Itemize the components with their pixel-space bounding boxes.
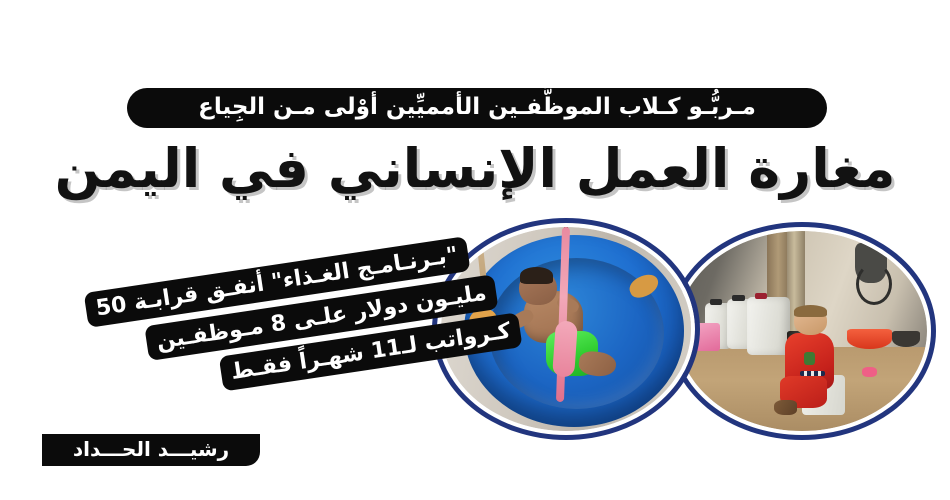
kicker-pill: مـربُّـو كـلاب الموظَّفـين الأمميِّين أو… — [127, 88, 827, 128]
photo-right — [668, 222, 936, 440]
red-bowl — [847, 329, 892, 349]
jerrycan-cap — [755, 293, 768, 299]
bag-strap — [856, 263, 892, 305]
byline-author-name: رشيـــد الحـــداد — [73, 437, 229, 461]
jacket-badge — [804, 352, 815, 365]
jerrycan-cap — [710, 299, 723, 305]
child-hair — [794, 305, 827, 317]
jerrycan-cap — [732, 295, 745, 301]
child-in-red — [777, 307, 852, 419]
page-title: مغارة العمل الإنساني في اليمن — [0, 138, 950, 200]
kicker-text: مـربُّـو كـلاب الموظَّفـين الأمميِّين أو… — [198, 96, 756, 119]
child-shoe — [774, 400, 797, 415]
pink-rope-knot — [552, 320, 578, 377]
deck-block: "بـرنـامـج الغـذاء" أنفـق قرابـة 50 مليـ… — [0, 222, 520, 392]
pink-debris — [862, 367, 877, 377]
photo-right-image — [677, 231, 927, 431]
tent-scene — [677, 231, 927, 431]
news-poster: مـربُّـو كـلاب الموظَّفـين الأمميِّين أو… — [0, 0, 950, 500]
child-cuff — [800, 371, 826, 377]
dark-bowl — [892, 331, 920, 347]
byline-bar: رشيـــد الحـــداد — [42, 434, 260, 466]
child-hair — [520, 267, 553, 284]
